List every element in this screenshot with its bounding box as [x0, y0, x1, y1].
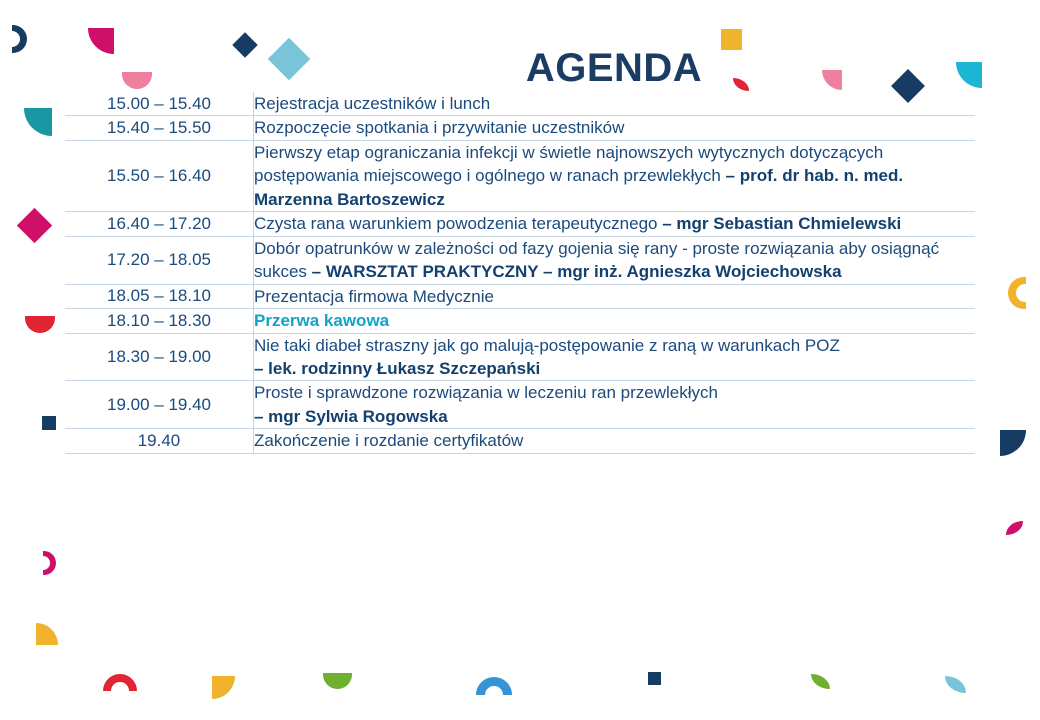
agenda-time: 19.00 – 19.40 [65, 381, 254, 429]
agenda-time: 19.40 [65, 429, 254, 453]
slide-content: AGENDA 15.00 – 15.40Rejestracja uczestni… [0, 0, 1040, 720]
agenda-speaker: – WARSZTAT PRAKTYCZNY – mgr inż. Agniesz… [312, 262, 842, 281]
page-title: AGENDA [253, 48, 975, 88]
agenda-speaker: – mgr Sebastian Chmielewski [662, 214, 901, 233]
agenda-topic: Rejestracja uczestników i lunch [254, 94, 490, 113]
agenda-description: Prezentacja firmowa Medycznie [254, 284, 976, 308]
agenda-description: Proste i sprawdzone rozwiązania w leczen… [254, 381, 976, 429]
agenda-speaker: – lek. rodzinny Łukasz Szczepański [254, 359, 540, 378]
agenda-description: Dobór opatrunków w zależności od fazy go… [254, 236, 976, 284]
table-row: 16.40 – 17.20Czysta rana warunkiem powod… [65, 212, 975, 236]
agenda-slide: AGENDA 15.00 – 15.40Rejestracja uczestni… [0, 0, 1040, 720]
agenda-topic: Nie taki diabeł straszny jak go malują-p… [254, 336, 840, 355]
agenda-description: Czysta rana warunkiem powodzenia terapeu… [254, 212, 976, 236]
agenda-description: Rejestracja uczestników i lunch [254, 92, 976, 116]
table-row: 18.10 – 18.30Przerwa kawowa [65, 309, 975, 333]
agenda-description: Pierwszy etap ograniczania infekcji w św… [254, 140, 976, 211]
agenda-topic: Proste i sprawdzone rozwiązania w leczen… [254, 383, 718, 402]
agenda-description: Rozpoczęcie spotkania i przywitanie ucze… [254, 116, 976, 140]
table-row: 17.20 – 18.05Dobór opatrunków w zależnoś… [65, 236, 975, 284]
agenda-topic: Zakończenie i rozdanie certyfikatów [254, 431, 523, 450]
agenda-time: 15.50 – 16.40 [65, 140, 254, 211]
agenda-topic: Rozpoczęcie spotkania i przywitanie ucze… [254, 118, 624, 137]
agenda-highlight: Przerwa kawowa [254, 311, 389, 330]
table-row: 18.30 – 19.00Nie taki diabeł straszny ja… [65, 333, 975, 381]
agenda-description: Nie taki diabeł straszny jak go malują-p… [254, 333, 976, 381]
table-row: 18.05 – 18.10Prezentacja firmowa Medyczn… [65, 284, 975, 308]
table-row: 19.40Zakończenie i rozdanie certyfikatów [65, 429, 975, 453]
agenda-speaker: – mgr Sylwia Rogowska [254, 407, 448, 426]
table-row: 15.40 – 15.50Rozpoczęcie spotkania i prz… [65, 116, 975, 140]
agenda-time: 18.05 – 18.10 [65, 284, 254, 308]
agenda-topic: Czysta rana warunkiem powodzenia terapeu… [254, 214, 662, 233]
agenda-topic: Prezentacja firmowa Medycznie [254, 287, 494, 306]
agenda-time: 16.40 – 17.20 [65, 212, 254, 236]
table-row: 15.00 – 15.40Rejestracja uczestników i l… [65, 92, 975, 116]
agenda-time: 15.40 – 15.50 [65, 116, 254, 140]
agenda-description: Przerwa kawowa [254, 309, 976, 333]
agenda-table: 15.00 – 15.40Rejestracja uczestników i l… [65, 92, 975, 454]
table-row: 15.50 – 16.40Pierwszy etap ograniczania … [65, 140, 975, 211]
agenda-table-body: 15.00 – 15.40Rejestracja uczestników i l… [65, 92, 975, 453]
agenda-time: 18.30 – 19.00 [65, 333, 254, 381]
agenda-time: 17.20 – 18.05 [65, 236, 254, 284]
table-row: 19.00 – 19.40Proste i sprawdzone rozwiąz… [65, 381, 975, 429]
agenda-time: 15.00 – 15.40 [65, 92, 254, 116]
agenda-time: 18.10 – 18.30 [65, 309, 254, 333]
agenda-description: Zakończenie i rozdanie certyfikatów [254, 429, 976, 453]
